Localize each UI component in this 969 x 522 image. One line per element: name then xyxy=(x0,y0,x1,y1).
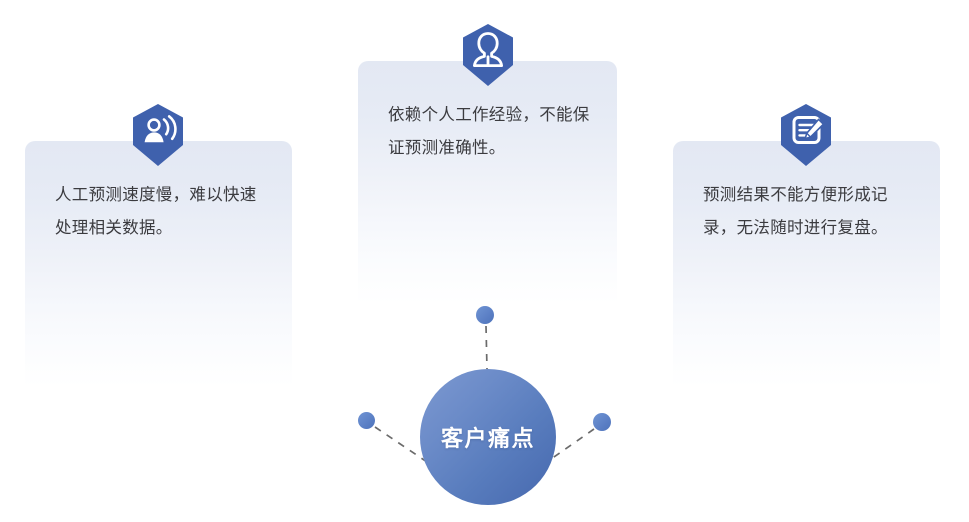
person-speed-icon xyxy=(131,104,185,166)
node-dot-top[interactable] xyxy=(476,306,494,324)
pain-point-card-3-text: 预测结果不能方便形成记录，无法随时进行复盘。 xyxy=(703,179,914,245)
document-pencil-icon xyxy=(779,104,833,166)
pain-point-card-1[interactable]: 人工预测速度慢，难以快速处理相关数据。 xyxy=(25,141,292,387)
hub-circle-customer-pain-points[interactable]: 客户痛点 xyxy=(420,369,556,505)
hub-label: 客户痛点 xyxy=(441,421,535,453)
pain-point-card-1-text: 人工预测速度慢，难以快速处理相关数据。 xyxy=(55,179,266,245)
connector-line-top xyxy=(486,326,487,369)
node-dot-right[interactable] xyxy=(593,413,611,431)
pain-point-card-3[interactable]: 预测结果不能方便形成记录，无法随时进行复盘。 xyxy=(673,141,940,387)
pain-point-card-2[interactable]: 依赖个人工作经验，不能保证预测准确性。 xyxy=(358,61,617,304)
user-person-icon xyxy=(461,24,515,86)
pain-point-card-2-text: 依赖个人工作经验，不能保证预测准确性。 xyxy=(388,99,591,165)
node-dot-left[interactable] xyxy=(358,412,375,429)
diagram-canvas: 人工预测速度慢，难以快速处理相关数据。 依赖个人工作经验，不能保证预测准确性。 … xyxy=(0,0,969,522)
